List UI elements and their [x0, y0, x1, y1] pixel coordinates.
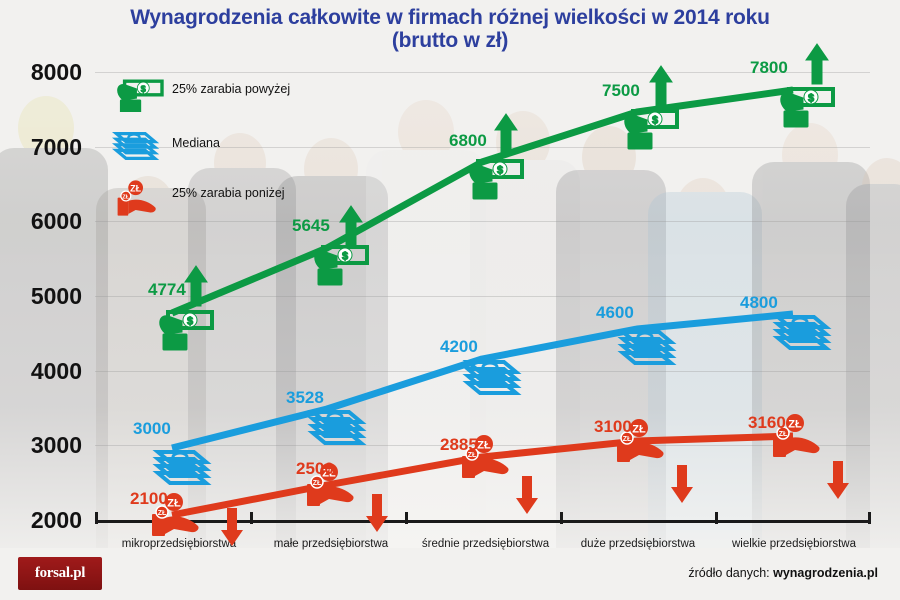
- data-label-green-2: 6800: [449, 131, 487, 151]
- data-label-green-4: 7800: [750, 58, 788, 78]
- legend-label-upper-quartile: 25% zarabia powyżej: [172, 82, 290, 96]
- legend-label-lower-quartile: 25% zarabia poniżej: [172, 186, 285, 200]
- data-label-red-2: 2885: [440, 435, 478, 455]
- data-label-blue-4: 4800: [740, 293, 778, 313]
- data-label-red-4: 3160: [748, 413, 786, 433]
- source-name: wynagrodzenia.pl: [773, 566, 878, 580]
- data-label-red-0: 2100: [130, 489, 168, 509]
- source-attribution: źródło danych: wynagrodzenia.pl: [688, 566, 878, 580]
- data-label-green-0: 4774: [148, 280, 186, 300]
- source-prefix: źródło danych:: [688, 566, 773, 580]
- legend-item-upper-quartile: 25% zarabia powyżej: [108, 66, 290, 112]
- legend-item-lower-quartile: 25% zarabia poniżej: [108, 170, 285, 216]
- forsal-logo[interactable]: forsal.pl: [18, 557, 102, 590]
- data-label-red-3: 3100: [594, 417, 632, 437]
- logo-text: forsal.pl: [35, 565, 85, 582]
- series-red-lower-quartile: [152, 414, 849, 546]
- hand-holding-banknote-up-icon: [108, 66, 166, 112]
- infographic-chart: Wynagrodzenia całkowite w firmach różnej…: [0, 0, 900, 600]
- legend-item-median: Mediana: [108, 120, 220, 166]
- data-label-blue-2: 4200: [440, 337, 478, 357]
- banknote-stack-icon: [108, 120, 166, 166]
- legend-label-median: Mediana: [172, 136, 220, 150]
- data-label-green-1: 5645: [292, 216, 330, 236]
- data-label-blue-1: 3528: [286, 388, 324, 408]
- data-label-blue-0: 3000: [133, 419, 171, 439]
- hand-holding-coins-down-icon: [108, 170, 166, 216]
- data-label-red-1: 2500: [296, 459, 334, 479]
- data-label-blue-3: 4600: [596, 303, 634, 323]
- data-label-green-3: 7500: [602, 81, 640, 101]
